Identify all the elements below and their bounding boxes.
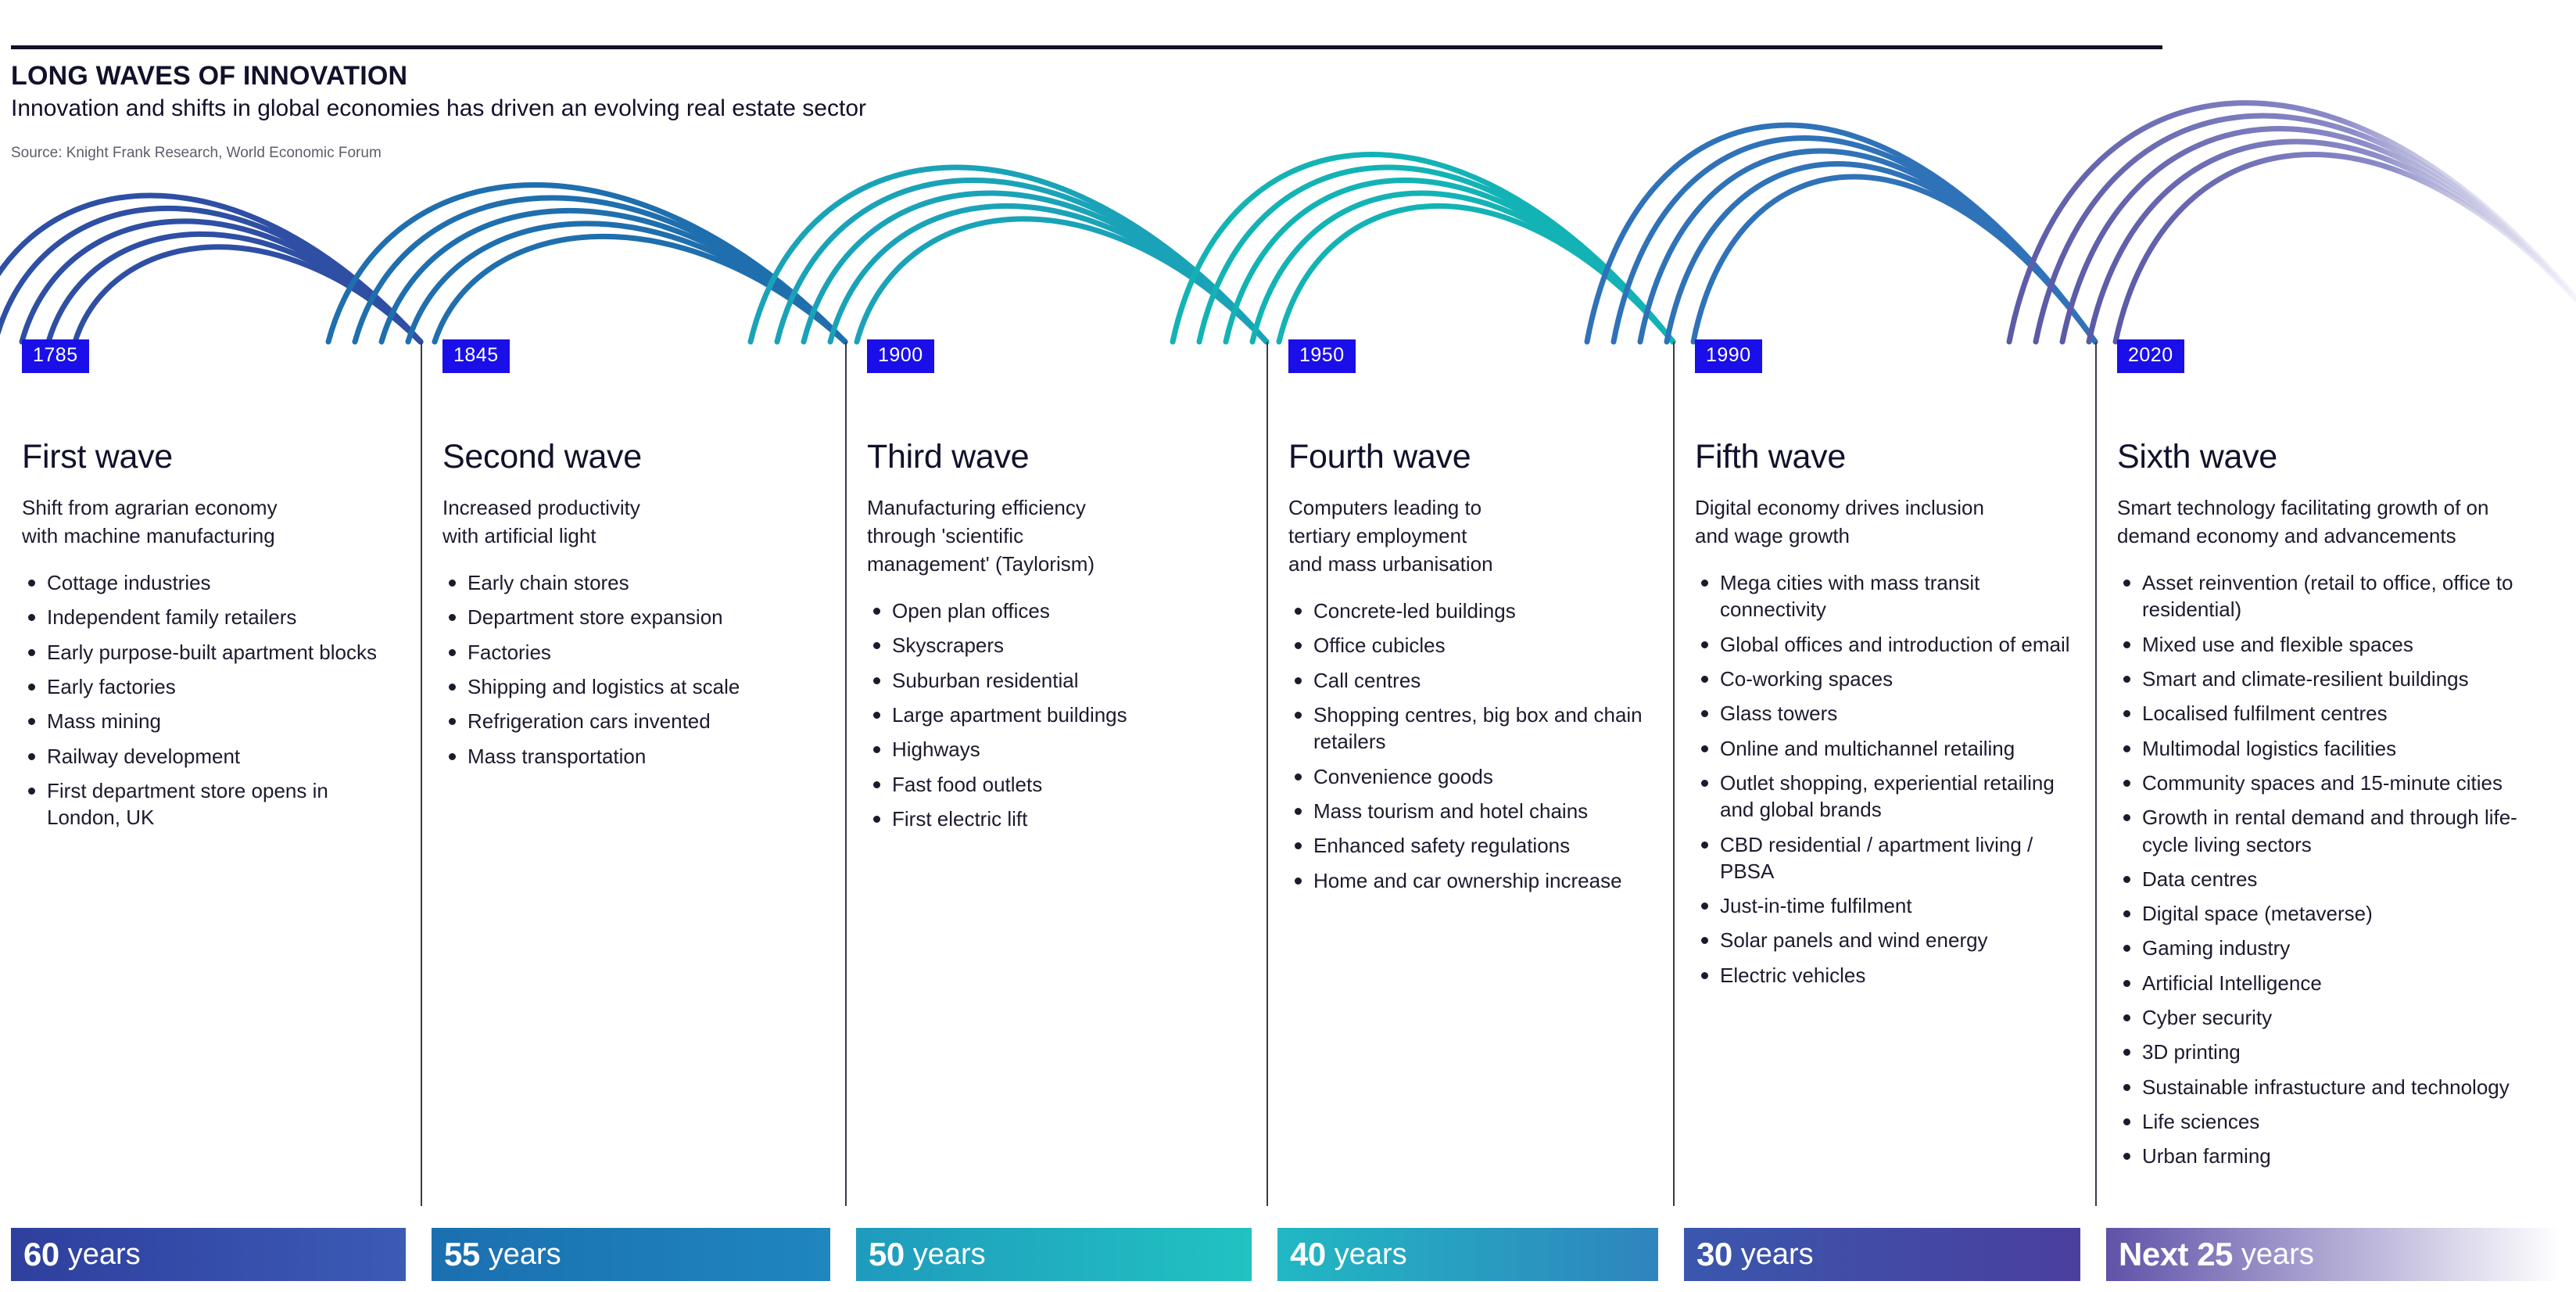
list-item: Just-in-time fulfilment	[1695, 892, 2081, 919]
list-item: Life sciences	[2117, 1108, 2562, 1135]
list-item: Urban farming	[2117, 1143, 2562, 1169]
wave-arc	[382, 210, 845, 342]
list-item: Suburban residential	[867, 667, 1252, 694]
wave-feature-list: Early chain storesDepartment store expan…	[442, 569, 831, 777]
list-item: Mixed use and flexible spaces	[2117, 631, 2562, 658]
year-badge: 1785	[22, 339, 89, 373]
list-item: Fast food outlets	[867, 771, 1252, 798]
source-credit: Source: Knight Frank Research, World Eco…	[11, 145, 382, 162]
wave-arc	[2036, 116, 2576, 342]
wave-description: Shift from agrarian economywith machine …	[22, 494, 407, 551]
wave-arc	[1640, 151, 2095, 342]
wave-feature-list: Mega cities with mass transit connectivi…	[1695, 569, 2081, 996]
list-item: First electric lift	[867, 806, 1252, 832]
wave-arc	[1614, 138, 2095, 342]
wave-description: Smart technology facilitating growth of …	[2117, 494, 2562, 551]
wave-feature-list: Cottage industriesIndependent family ret…	[22, 569, 407, 839]
column-divider	[1267, 342, 1268, 1206]
list-item: Early factories	[22, 673, 407, 700]
wave-arc	[0, 196, 421, 342]
year-badge: 1845	[442, 339, 510, 373]
wave-arc	[355, 198, 845, 342]
list-item: Electric vehicles	[1695, 962, 2081, 989]
list-item: Shipping and logistics at scale	[442, 673, 831, 700]
list-item: Call centres	[1288, 667, 1659, 694]
wave-arc	[804, 193, 1267, 342]
column-divider	[2095, 342, 2097, 1206]
duration-number: 40	[1290, 1236, 1326, 1273]
wave-description: Computers leading totertiary employmenta…	[1288, 494, 1659, 579]
wave-title: Third wave	[867, 438, 1029, 476]
wave-duration-bar: 40years	[1277, 1228, 1658, 1281]
wave-arc	[1667, 164, 2095, 342]
list-item: Cottage industries	[22, 569, 407, 596]
list-item: Early purpose-built apartment blocks	[22, 639, 407, 666]
wave-title: First wave	[22, 438, 173, 476]
list-item: Global offices and introduction of email	[1695, 631, 2081, 658]
wave-arc	[830, 206, 1267, 342]
year-badge: 2020	[2117, 339, 2184, 373]
wave-arc	[1199, 167, 1673, 342]
wave-arc	[777, 180, 1267, 342]
wave-duration-bar: Next 25years	[2106, 1228, 2561, 1281]
wave-title: Second wave	[442, 438, 642, 476]
duration-unit: years	[913, 1238, 986, 1272]
duration-number: Next 25	[2119, 1236, 2233, 1273]
list-item: Department store expansion	[442, 604, 831, 630]
wave-feature-list: Asset reinvention (retail to office, off…	[2117, 569, 2562, 1178]
wave-arc	[328, 185, 845, 342]
wave-feature-list: Concrete-led buildingsOffice cubiclesCal…	[1288, 598, 1659, 902]
list-item: Concrete-led buildings	[1288, 598, 1659, 624]
wave-arc	[0, 208, 421, 342]
wave-arc	[1226, 180, 1673, 342]
list-item: Railway development	[22, 743, 407, 770]
wave-title: Sixth wave	[2117, 438, 2277, 476]
list-item: Co-working spaces	[1695, 666, 2081, 692]
list-item: Skyscrapers	[867, 632, 1252, 659]
wave-description: Manufacturing efficiencythrough 'scienti…	[867, 494, 1252, 579]
duration-number: 60	[23, 1236, 59, 1273]
wave-description: Digital economy drives inclusionand wage…	[1695, 494, 2081, 551]
page-subtitle: Innovation and shifts in global economie…	[11, 95, 866, 122]
list-item: Enhanced safety regulations	[1288, 832, 1659, 859]
list-item: Open plan offices	[867, 598, 1252, 624]
wave-arc	[2062, 129, 2576, 342]
wave-arc	[1587, 125, 2095, 342]
year-badge: 1900	[867, 339, 934, 373]
wave-title: Fourth wave	[1288, 438, 1471, 476]
list-item: Convenience goods	[1288, 763, 1659, 790]
list-item: Solar panels and wind energy	[1695, 927, 2081, 953]
wave-arc	[1173, 155, 1673, 342]
list-item: Community spaces and 15-minute cities	[2117, 770, 2562, 796]
wave-arc	[408, 224, 845, 342]
list-item: Mass tourism and hotel chains	[1288, 798, 1659, 824]
list-item: Factories	[442, 639, 831, 666]
duration-unit: years	[489, 1238, 561, 1272]
duration-unit: years	[68, 1238, 141, 1272]
list-item: Refrigeration cars invented	[442, 708, 831, 734]
wave-arc	[1252, 193, 1673, 342]
list-item: Independent family retailers	[22, 604, 407, 630]
wave-arc	[751, 167, 1267, 342]
wave-feature-list: Open plan officesSkyscrapersSuburban res…	[867, 598, 1252, 840]
list-item: Highways	[867, 736, 1252, 763]
list-item: Cyber security	[2117, 1004, 2562, 1031]
list-item: Mass mining	[22, 708, 407, 734]
list-item: 3D printing	[2117, 1039, 2562, 1065]
list-item: Data centres	[2117, 866, 2562, 892]
list-item: Large apartment buildings	[867, 702, 1252, 728]
column-divider	[1673, 342, 1675, 1206]
list-item: Artificial Intelligence	[2117, 970, 2562, 996]
list-item: Localised fulfilment centres	[2117, 700, 2562, 727]
list-item: Digital space (metaverse)	[2117, 900, 2562, 927]
column-divider	[421, 342, 422, 1206]
wave-duration-bar: 60years	[11, 1228, 406, 1281]
list-item: Smart and climate-resilient buildings	[2117, 666, 2562, 692]
list-item: Asset reinvention (retail to office, off…	[2117, 569, 2562, 623]
wave-title: Fifth wave	[1695, 438, 1846, 476]
wave-arc	[1279, 206, 1673, 342]
wave-arc	[48, 234, 421, 342]
list-item: Early chain stores	[442, 569, 831, 596]
duration-number: 55	[444, 1236, 480, 1273]
wave-arc	[75, 247, 421, 342]
wave-arc	[435, 236, 845, 342]
list-item: Multimodal logistics facilities	[2117, 735, 2562, 762]
list-item: First department store opens in London, …	[22, 777, 407, 831]
wave-arc	[2089, 142, 2576, 342]
duration-number: 30	[1696, 1236, 1732, 1273]
column-divider	[845, 342, 847, 1206]
list-item: Shopping centres, big box and chain reta…	[1288, 702, 1659, 755]
list-item: Outlet shopping, experiential retailing …	[1695, 770, 2081, 824]
wave-arc	[2009, 103, 2576, 342]
wave-description: Increased productivitywith artificial li…	[442, 494, 831, 551]
duration-number: 50	[869, 1236, 905, 1273]
wave-duration-bar: 50years	[856, 1228, 1252, 1281]
wave-arc	[1693, 177, 2095, 342]
list-item: Online and multichannel retailing	[1695, 735, 2081, 762]
duration-unit: years	[1335, 1238, 1407, 1272]
wave-arc	[2116, 155, 2576, 342]
page-title: LONG WAVES OF INNOVATION	[11, 61, 407, 92]
wave-duration-bar: 30years	[1684, 1228, 2080, 1281]
wave-arc	[22, 221, 421, 342]
duration-unit: years	[1741, 1238, 1814, 1272]
list-item: CBD residential / apartment living / PBS…	[1695, 831, 2081, 885]
year-badge: 1950	[1288, 339, 1356, 373]
duration-unit: years	[2241, 1238, 2314, 1272]
list-item: Sustainable infrastucture and technology	[2117, 1074, 2562, 1100]
list-item: Glass towers	[1695, 700, 2081, 727]
year-badge: 1990	[1695, 339, 1762, 373]
wave-duration-bar: 55years	[432, 1228, 830, 1281]
list-item: Office cubicles	[1288, 632, 1659, 659]
header-rule	[11, 45, 2162, 49]
list-item: Growth in rental demand and through life…	[2117, 804, 2562, 858]
list-item: Mass transportation	[442, 743, 831, 770]
list-item: Gaming industry	[2117, 935, 2562, 961]
list-item: Home and car ownership increase	[1288, 867, 1659, 894]
wave-arc	[857, 219, 1267, 342]
list-item: Mega cities with mass transit connectivi…	[1695, 569, 2081, 623]
